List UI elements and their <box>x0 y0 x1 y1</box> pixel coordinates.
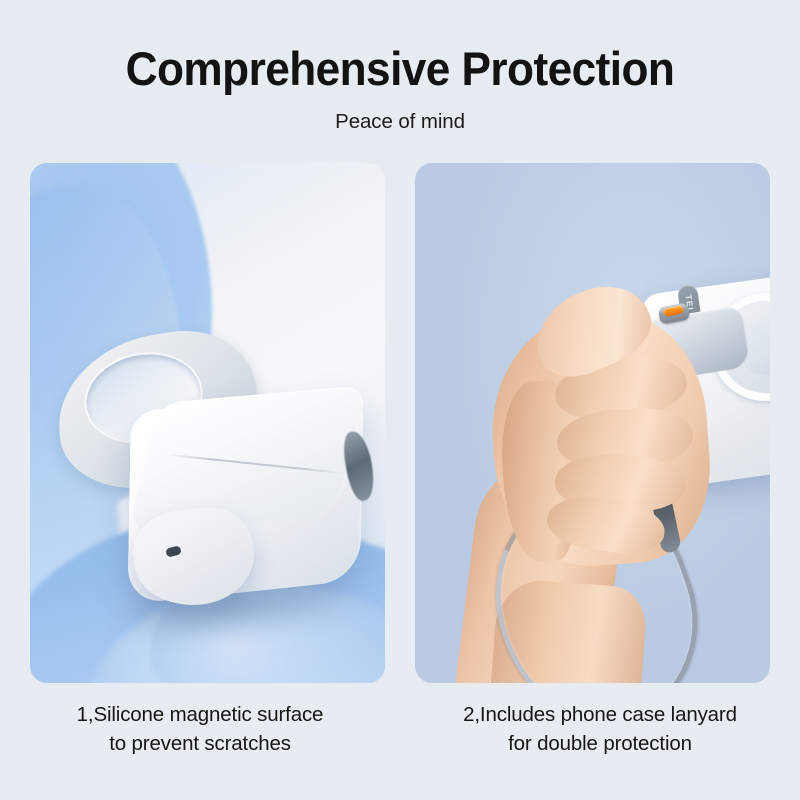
caption-line-2: for double protection <box>400 729 800 758</box>
caption-line-1: 1,Silicone magnetic surface <box>0 700 400 729</box>
caption-line-2: to prevent scratches <box>0 729 400 758</box>
page-title: Comprehensive Protection <box>24 0 776 95</box>
feature-panels: TELESIN <box>30 163 770 683</box>
feature-panel-silicone-magnetic-surface <box>30 163 385 683</box>
camera-grip-product <box>48 313 378 613</box>
caption-phone-case-lanyard: 2,Includes phone case lanyard for double… <box>400 700 800 758</box>
page-subtitle: Peace of mind <box>0 95 800 134</box>
caption-silicone-magnetic-surface: 1,Silicone magnetic surface to prevent s… <box>0 700 400 758</box>
header: Comprehensive Protection Peace of mind <box>0 0 800 134</box>
captions-row: 1,Silicone magnetic surface to prevent s… <box>0 700 800 758</box>
caption-line-1: 2,Includes phone case lanyard <box>400 700 800 729</box>
feature-panel-phone-case-lanyard: TELESIN <box>415 163 770 683</box>
